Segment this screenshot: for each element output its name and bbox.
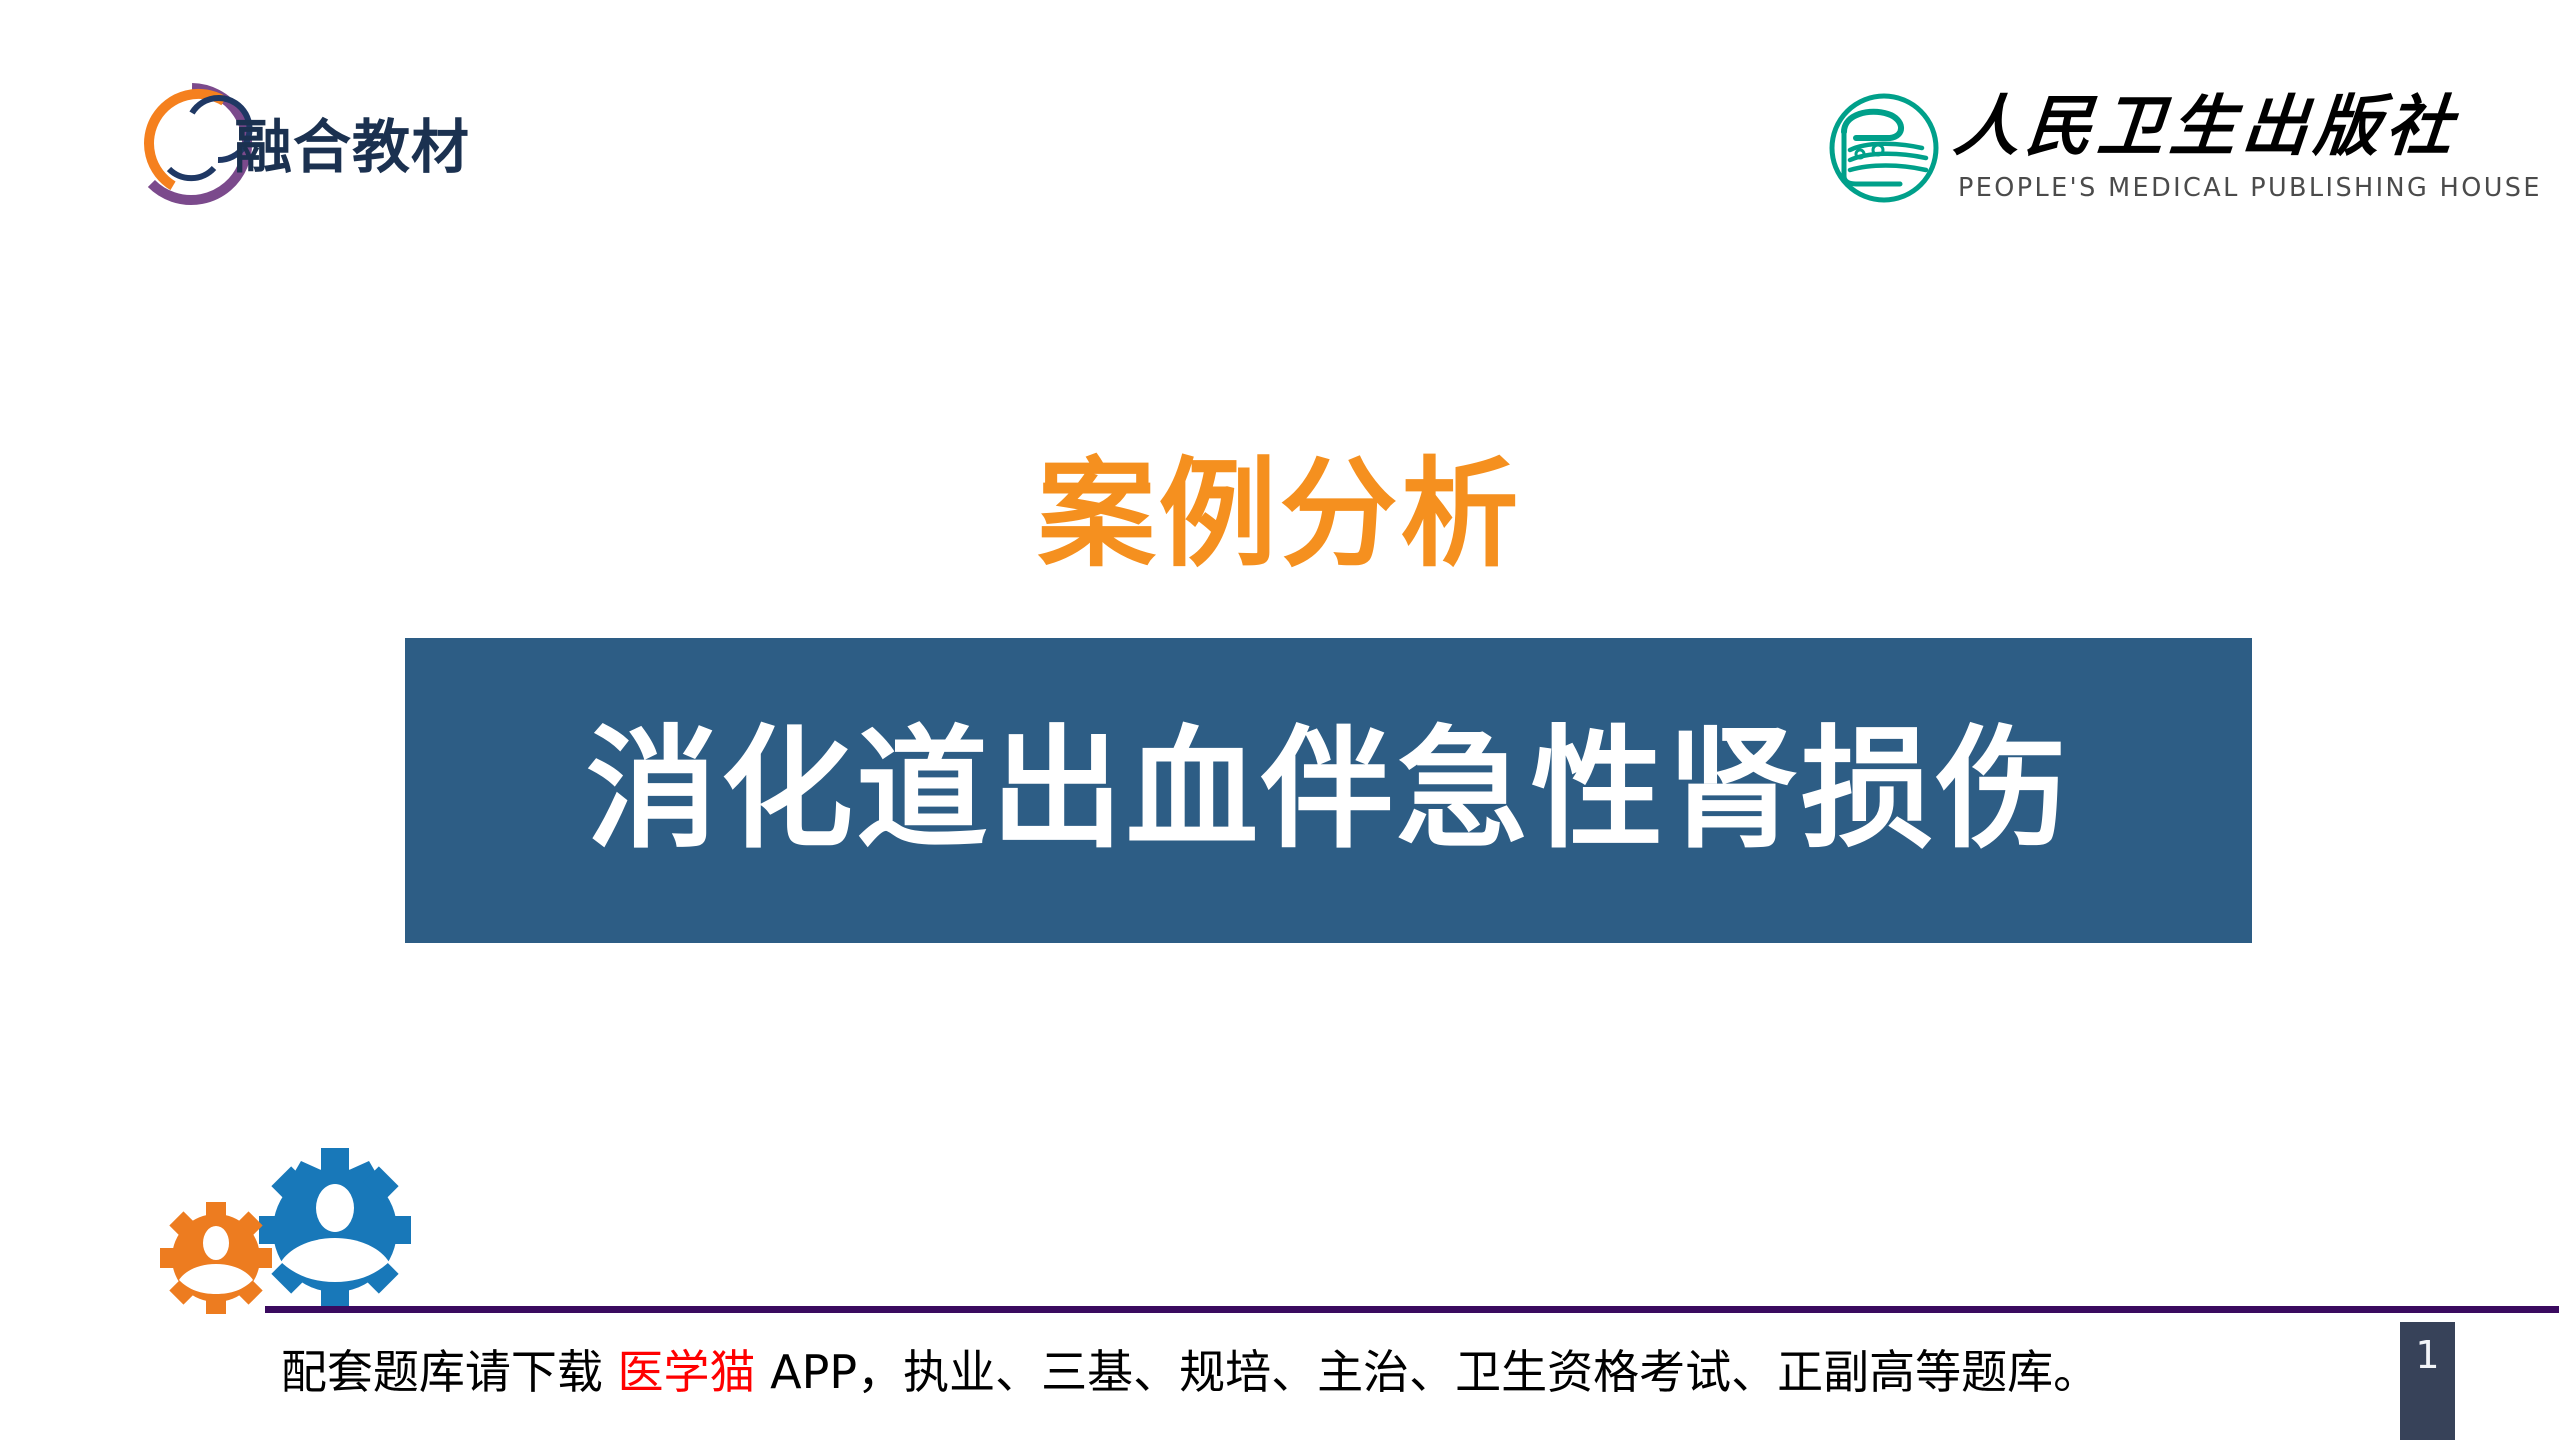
section-heading: 案例分析: [0, 452, 2559, 577]
footer-divider: [265, 1306, 2559, 1313]
rong-he-jiao-cai-logo: 融合教材: [128, 78, 448, 210]
footer-note-suffix: APP，执业、三基、规培、主治、卫生资格考试、正副高等题库。: [756, 1345, 2100, 1399]
gear-person-pair-icon: [148, 1140, 428, 1320]
page-number-label: 1: [2400, 1336, 2455, 1374]
footer-note-app-name: 医学猫: [618, 1345, 756, 1399]
publisher-english-name: PEOPLE'S MEDICAL PUBLISHING HOUSE: [1958, 176, 2542, 202]
title-banner: 消化道出血伴急性肾损伤: [405, 638, 2252, 943]
publisher-chinese-name: 人民卫生出版社: [1951, 90, 2461, 164]
presentation-slide: 融合教材 人民卫生出版社 PEOPLE'S MEDICAL PUBLISHING…: [0, 0, 2559, 1440]
footer-note-prefix: 配套题库请下载: [281, 1345, 618, 1399]
rong-he-jiao-cai-label: 融合教材: [234, 118, 470, 176]
publisher-logo: 人民卫生出版社 PEOPLE'S MEDICAL PUBLISHING HOUS…: [1826, 88, 2486, 210]
page-number-badge: 1: [2400, 1322, 2455, 1440]
publisher-emblem-icon: [1826, 88, 1946, 208]
case-title: 消化道出血伴急性肾损伤: [586, 721, 2071, 861]
footer-note: 配套题库请下载 医学猫 APP，执业、三基、规培、主治、卫生资格考试、正副高等题…: [0, 1345, 2380, 1399]
